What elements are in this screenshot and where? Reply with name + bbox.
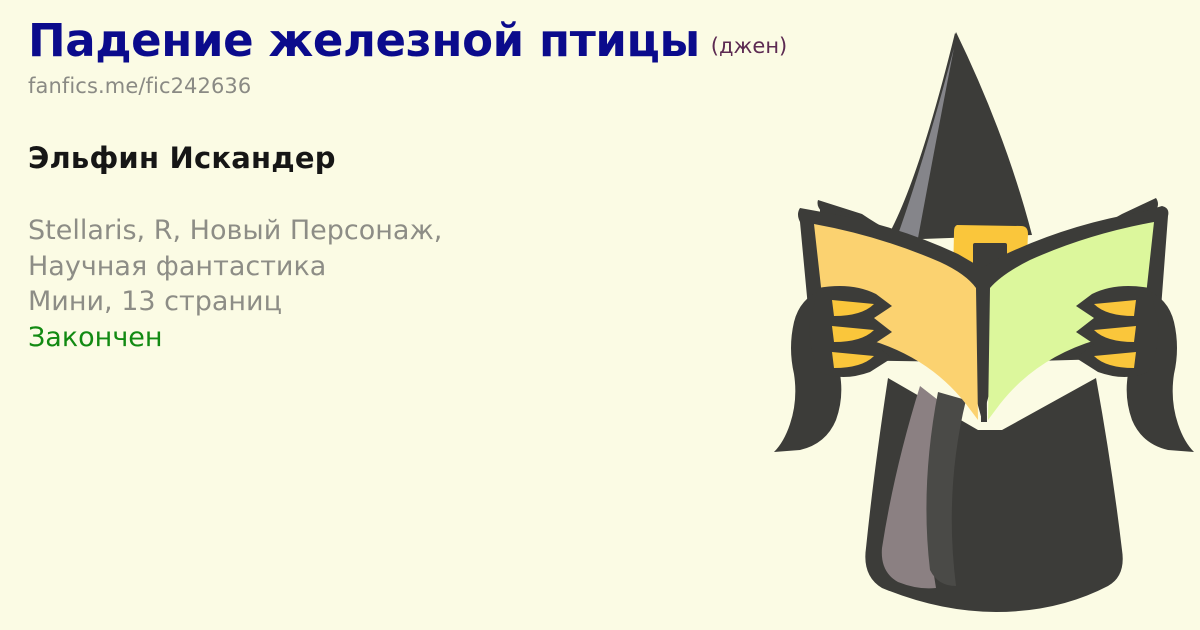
- fic-meta-line-fandom: Stellaris, R, Новый Персонаж,: [28, 213, 688, 249]
- fic-url[interactable]: fanfics.me/fic242636: [28, 74, 868, 98]
- fic-metadata-block: Stellaris, R, Новый Персонаж, Научная фа…: [28, 213, 868, 356]
- fic-meta-line-size: Мини, 13 страниц: [28, 284, 688, 320]
- fic-category-label: (джен): [711, 34, 787, 58]
- fic-author-name[interactable]: Эльфин Искандер: [28, 141, 868, 175]
- book-spine: [980, 288, 987, 422]
- fic-meta-line-genre: Научная фантастика: [28, 249, 688, 285]
- page-title: Падение железной птицы: [28, 14, 700, 67]
- status-badge: Закончен: [28, 320, 688, 356]
- fanfic-preview-card: Падение железной птицы(джен) fanfics.me/…: [0, 0, 1200, 630]
- fanfic-info-block: Падение железной птицы(джен) fanfics.me/…: [28, 18, 868, 356]
- title-row: Падение железной птицы(джен): [28, 18, 868, 63]
